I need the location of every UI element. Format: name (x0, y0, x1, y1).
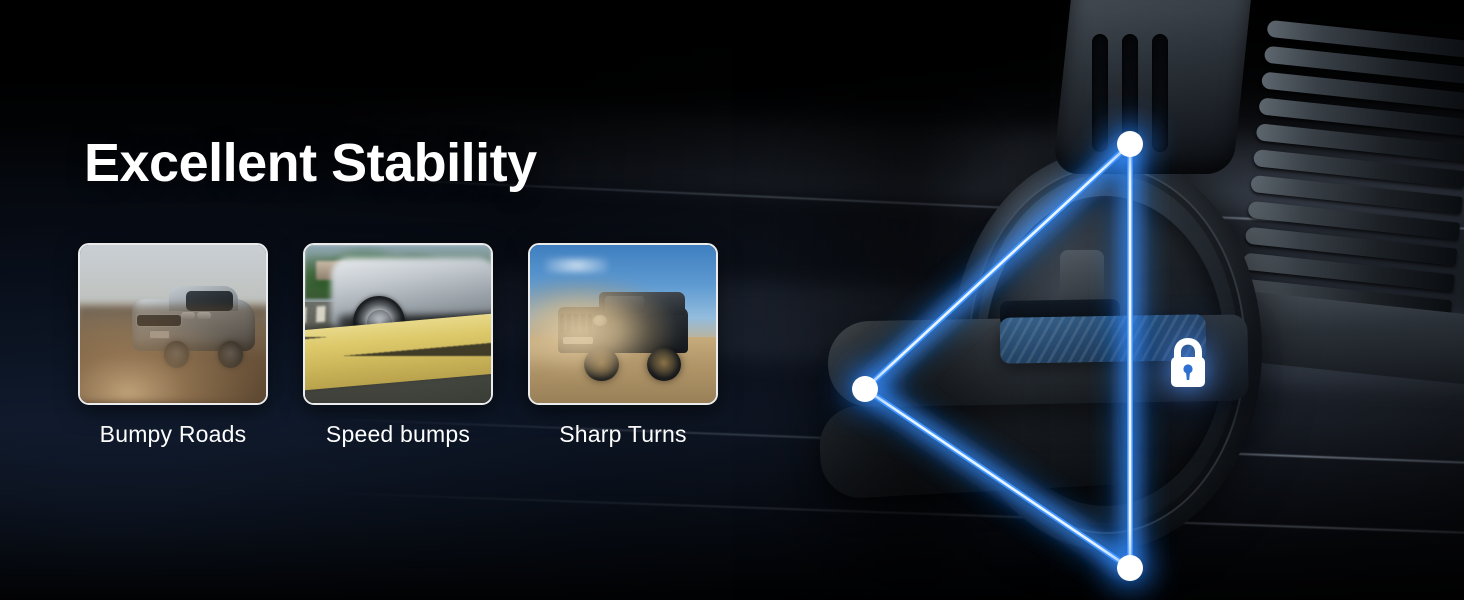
padlock-locked-icon (1166, 336, 1210, 392)
scenario-thumbnail-bumpy-roads (78, 243, 268, 405)
scenario-item-bumpy-roads: Bumpy Roads (78, 243, 268, 448)
triangle-node-bottom (1117, 555, 1143, 581)
scenario-item-speed-bumps: Speed bumps (303, 243, 493, 448)
scenario-item-sharp-turns: Sharp Turns (528, 243, 718, 448)
scenario-caption: Sharp Turns (559, 421, 687, 448)
scenario-thumbnail-speed-bumps (303, 243, 493, 405)
scenario-caption: Speed bumps (326, 421, 470, 448)
scenario-caption: Bumpy Roads (100, 421, 247, 448)
car-crossing-speed-bump-image (305, 245, 491, 403)
suv-on-dusty-desert-road-image (80, 245, 266, 403)
page-title: Excellent Stability (84, 132, 537, 194)
jeep-turning-in-sand-image (530, 245, 716, 403)
scenario-list: Bumpy Roads Speed bumps (78, 243, 718, 448)
triangle-node-left (852, 376, 878, 402)
scenario-thumbnail-sharp-turns (528, 243, 718, 405)
triangle-node-top (1117, 131, 1143, 157)
product-feature-banner: Excellent Stability (0, 0, 1464, 600)
